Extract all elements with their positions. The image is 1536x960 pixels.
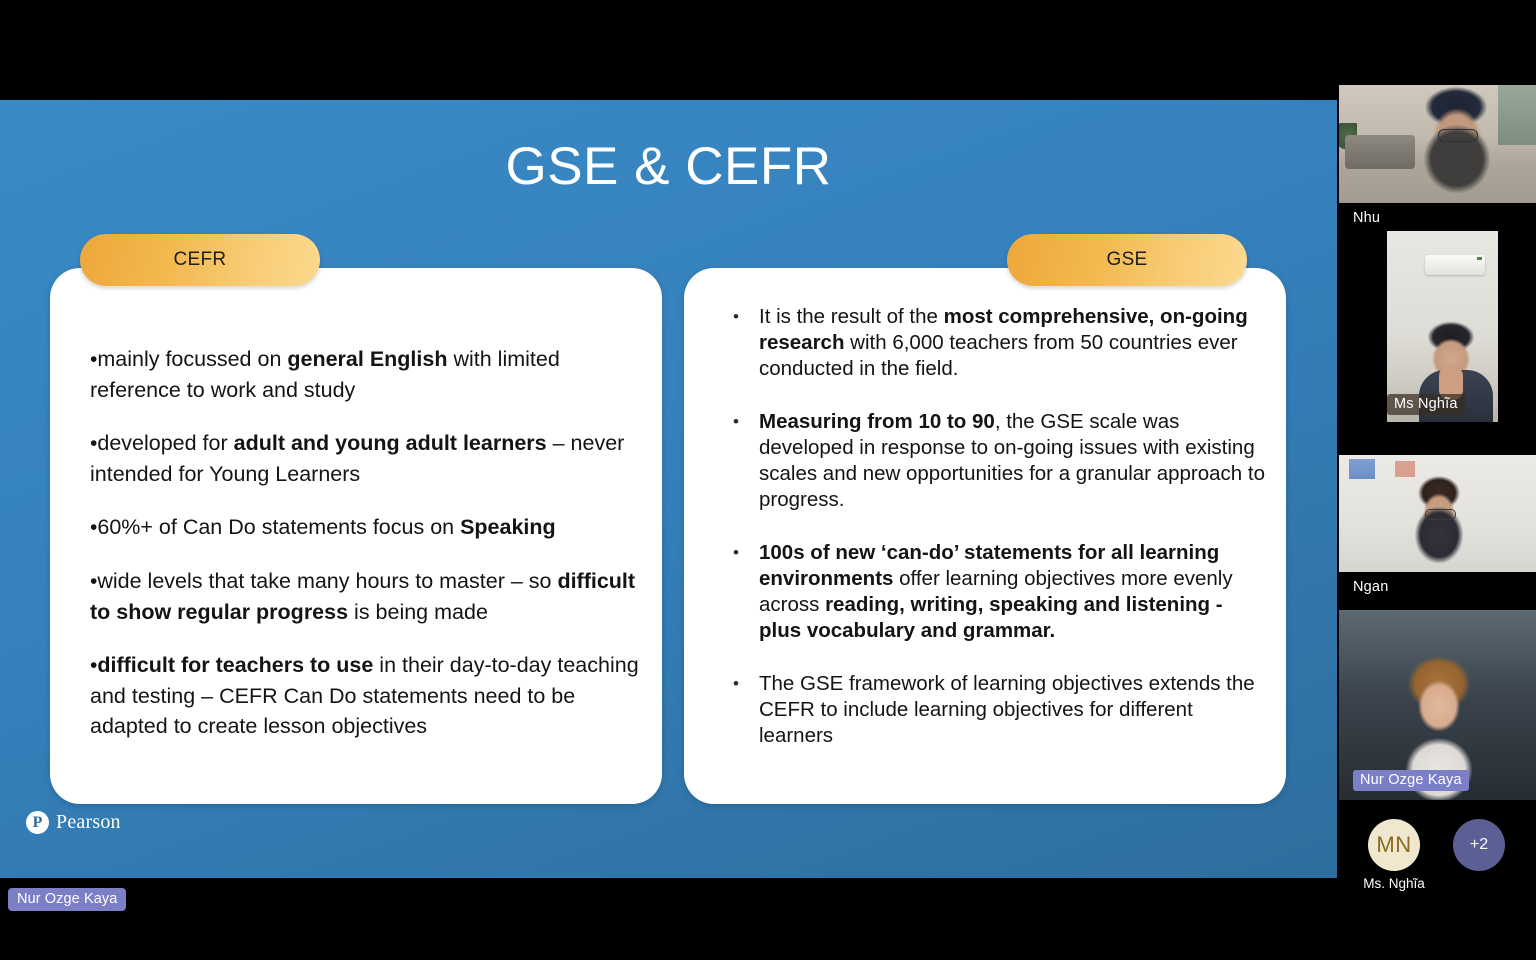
bullet-text-wrap: The GSE framework of learning objectives… [759, 672, 1255, 747]
bullet-item: •mainly focussed on general English with… [90, 344, 640, 405]
video-feed [1339, 85, 1536, 203]
gse-card-tab: GSE [1007, 234, 1247, 286]
participant-avatar-row: MN Ms. Nghĩa +2 [1339, 815, 1536, 915]
avatar-ms-nghia[interactable]: MN Ms. Nghĩa [1355, 819, 1433, 891]
meeting-screen: GSE & CEFR CEFR •mainly focussed on gene… [0, 0, 1536, 960]
gse-card-tab-label: GSE [1106, 249, 1147, 271]
participant-name-label: Ngan [1353, 579, 1388, 595]
bullet-text-bold: general English [287, 347, 447, 371]
avatar-initials: MN [1368, 819, 1420, 871]
wall-poster-decor [1349, 459, 1375, 479]
bullet-marker-icon: • [733, 304, 739, 330]
bullet-text: The GSE framework of learning objectives… [759, 672, 1255, 747]
bullet-text: developed for [97, 431, 233, 455]
participant-name-label: Ms Nghĩa [1387, 394, 1465, 415]
cefr-card-body: •mainly focussed on general English with… [50, 268, 662, 804]
video-tile-ms-nghia[interactable]: Ms Nghĩa [1339, 231, 1536, 427]
pearson-p-icon: P [26, 811, 49, 834]
air-conditioner-decor [1425, 255, 1485, 275]
bullet-text-bold: reading, writing, speaking and listening… [759, 593, 1223, 642]
participant-filmstrip: Nhu Ms Nghĩa Ngan Nur Ozge Kaya MN [1339, 0, 1536, 960]
bullet-text-wrap: Measuring from 10 to 90, the GSE scale w… [759, 410, 1265, 511]
gse-bullet-list: •It is the result of the most comprehens… [712, 304, 1268, 776]
glasses-decor [1438, 129, 1478, 142]
pearson-wordmark: Pearson [56, 811, 121, 834]
bullet-text: wide levels that take many hours to mast… [97, 569, 557, 593]
bullet-text-wrap: 100s of new ‘can-do’ statements for all … [759, 541, 1233, 642]
bullet-marker-icon: • [733, 540, 739, 566]
video-tile-nhu[interactable]: Nhu [1339, 85, 1536, 230]
active-presenter-name-tag: Nur Ozge Kaya [8, 888, 126, 911]
video-tile-nur-ozge-kaya[interactable]: Nur Ozge Kaya [1339, 610, 1536, 800]
participant-name-label: Nhu [1353, 210, 1380, 226]
cefr-card-tab-label: CEFR [174, 249, 227, 271]
bullet-item: •60%+ of Can Do statements focus on Spea… [90, 512, 640, 543]
bullet-text: 60%+ of Can Do statements focus on [97, 515, 460, 539]
gse-card-body: •It is the result of the most comprehens… [684, 268, 1286, 804]
bullet-item: •difficult for teachers to use in their … [90, 650, 640, 741]
gse-card: GSE •It is the result of the most compre… [684, 234, 1286, 804]
overflow-participants-badge[interactable]: +2 [1453, 819, 1505, 871]
bullet-text-bold: Speaking [460, 515, 556, 539]
glasses-decor [1425, 509, 1456, 520]
bullet-marker-icon: • [733, 409, 739, 435]
presentation-slide: GSE & CEFR CEFR •mainly focussed on gene… [0, 100, 1337, 878]
pearson-logo: P Pearson [26, 811, 121, 834]
bullet-text: It is the result of the [759, 305, 944, 328]
wall-poster-decor [1395, 461, 1415, 477]
bullet-text: mainly focussed on [97, 347, 287, 371]
cefr-bullet-list: •mainly focussed on general English with… [90, 344, 640, 764]
participant-name-label-active: Nur Ozge Kaya [1353, 770, 1469, 791]
cefr-card-tab: CEFR [80, 234, 320, 286]
sofa-decor [1345, 135, 1415, 169]
video-tile-ngan[interactable]: Ngan [1339, 455, 1536, 605]
bullet-marker-icon: • [733, 671, 739, 697]
bullet-item: •100s of new ‘can-do’ statements for all… [712, 540, 1268, 644]
bullet-item: •The GSE framework of learning objective… [712, 671, 1268, 749]
bullet-text: is being made [348, 600, 488, 624]
video-feed [1339, 455, 1536, 572]
bullet-item: •developed for adult and young adult lea… [90, 428, 640, 489]
bullet-item: •It is the result of the most comprehens… [712, 304, 1268, 382]
bullet-text-bold: difficult for teachers to use [97, 653, 373, 677]
avatar-label: Ms. Nghĩa [1355, 876, 1433, 891]
bullet-item: •wide levels that take many hours to mas… [90, 566, 640, 627]
bullet-item: •Measuring from 10 to 90, the GSE scale … [712, 409, 1268, 513]
bullet-text-bold: adult and young adult learners [234, 431, 547, 455]
cefr-card: CEFR •mainly focussed on general English… [50, 234, 662, 804]
page-title: GSE & CEFR [0, 136, 1337, 197]
window-decor [1498, 85, 1536, 145]
bullet-text-wrap: It is the result of the most comprehensi… [759, 305, 1248, 380]
bullet-text-bold: Measuring from 10 to 90 [759, 410, 995, 433]
